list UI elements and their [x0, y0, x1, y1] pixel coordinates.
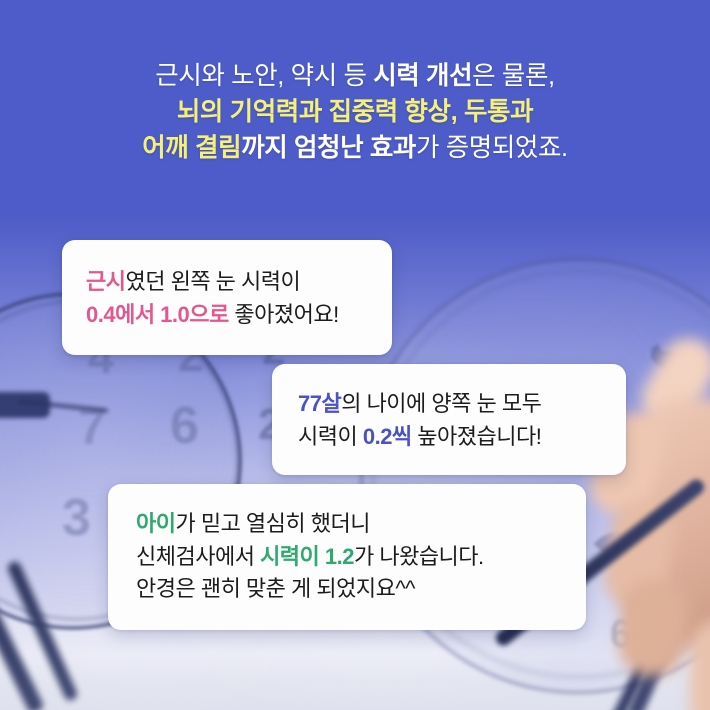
card2-line-1: 77살의 나이에 양쪽 눈 모두 [298, 388, 606, 421]
headline-line3-highlight: 어깨 결림 [142, 134, 241, 162]
headline: 근시와 노안, 약시 등 시력 개선은 물론, 뇌의 기억력과 집중력 향상, … [0, 58, 710, 167]
card1-line-1: 근시였던 왼쪽 눈 시력이 [86, 266, 370, 299]
headline-line3-bold-a: 까지 [241, 134, 294, 162]
card2-text-2b: 높아졌습니다! [412, 424, 542, 449]
headline-line-2: 뇌의 기억력과 집중력 향상, 두통과 [0, 94, 710, 130]
testimonial-card-3: 아이가 믿고 열심히 했더니 신체검사에서 시력이 1.2가 나왔습니다. 안경… [108, 484, 586, 630]
headline-line1-text-a: 근시와 노안, 약시 등 [155, 62, 373, 90]
card3-text-1: 가 믿고 열심히 했더니 [175, 511, 370, 536]
card3-text-2a: 신체검사에서 [136, 544, 260, 569]
card3-accent-1: 아이 [136, 511, 175, 536]
headline-line3-tail: 가 증명되었죠. [416, 134, 568, 162]
card3-accent-2: 시력이 1.2 [260, 544, 354, 569]
card3-line-1: 아이가 믿고 열심히 했더니 [136, 508, 564, 541]
card1-text-1: 였던 왼쪽 눈 시력이 [125, 269, 300, 294]
hand-finger [617, 578, 690, 678]
card2-line-2: 시력이 0.2씩 높아졌습니다! [298, 421, 606, 454]
testimonial-card-2: 77살의 나이에 양쪽 눈 모두 시력이 0.2씩 높아졌습니다! [272, 364, 626, 475]
headline-line3-bold-b: 엄청난 효과 [294, 134, 416, 162]
card2-text-2a: 시력이 [298, 424, 363, 449]
card1-line-2: 0.4에서 1.0으로 좋아졌어요! [86, 299, 370, 332]
card3-line-3: 안경은 괜히 맞춘 게 되었지요^^ [136, 573, 564, 606]
card1-accent-1: 근시 [86, 269, 125, 294]
card1-text-2: 좋아졌어요! [229, 302, 339, 327]
card2-accent-2: 0.2씩 [363, 424, 412, 449]
headline-line1-bold: 시력 개선 [373, 62, 472, 90]
card1-accent-2: 0.4에서 1.0으로 [86, 302, 229, 327]
card3-line-2: 신체검사에서 시력이 1.2가 나왔습니다. [136, 541, 564, 574]
headline-line-3: 어깨 결림까지 엄청난 효과가 증명되었죠. [0, 130, 710, 166]
headline-line2-highlight: 뇌의 기억력과 집중력 향상, 두통과 [177, 98, 533, 126]
testimonial-card-1: 근시였던 왼쪽 눈 시력이 0.4에서 1.0으로 좋아졌어요! [62, 240, 392, 355]
card2-text-1: 의 나이에 양쪽 눈 모두 [341, 391, 541, 416]
card3-text-2b: 가 나왔습니다. [354, 544, 484, 569]
card2-accent-1: 77살 [298, 391, 341, 416]
headline-line-1: 근시와 노안, 약시 등 시력 개선은 물론, [0, 58, 710, 94]
headline-line1-text-b: 은 물론, [472, 62, 555, 90]
poster-root: 4 2 2 7 6 2 3 6 근시와 노안, 약시 등 시력 개선은 물론, … [0, 0, 710, 710]
